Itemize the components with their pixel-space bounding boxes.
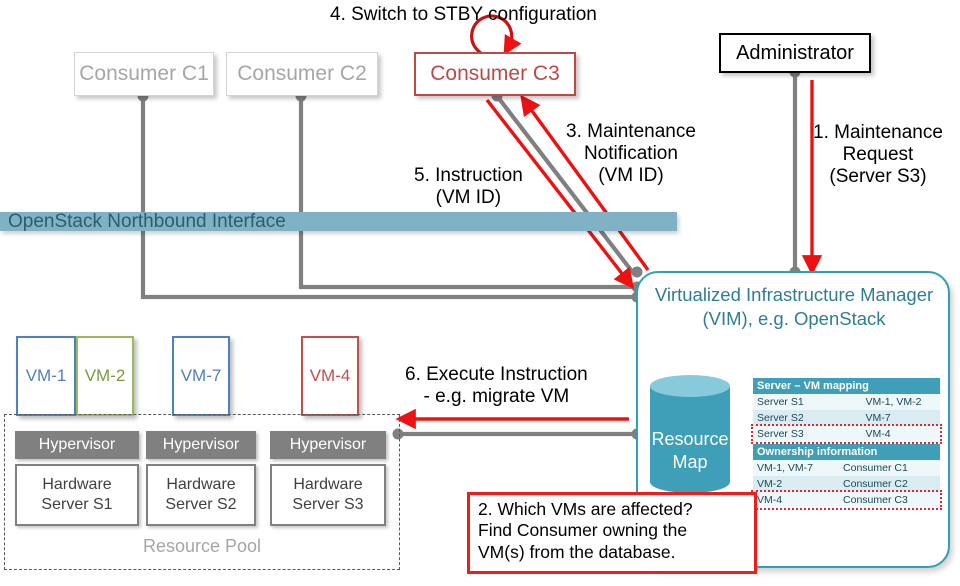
- cell-consumer: Consumer C2: [839, 476, 940, 492]
- hypervisor-s1: Hypervisor: [15, 431, 139, 459]
- cell-consumer: Consumer C3: [839, 492, 940, 508]
- table-row-highlighted: Server S3 VM-4: [753, 426, 940, 442]
- consumer-label: Consumer C2: [237, 62, 367, 86]
- vim-tables: Server – VM mapping Server S1 VM-1, VM-2…: [753, 378, 940, 508]
- cell-vms: VM-7: [861, 410, 940, 426]
- callout-line-1: 2. Which VMs are affected?: [478, 499, 746, 520]
- administrator-box[interactable]: Administrator: [719, 33, 871, 73]
- callout-step-2: 2. Which VMs are affected? Find Consumer…: [467, 492, 757, 574]
- hardware-server-s2: Hardware Server S2: [146, 464, 256, 526]
- hardware-line1: Hardware: [293, 475, 362, 495]
- vm-label: VM-7: [181, 366, 222, 386]
- hardware-line1: Hardware: [166, 475, 235, 495]
- resource-map-database-icon: Resource Map: [650, 375, 730, 493]
- hypervisor-s3: Hypervisor: [270, 431, 386, 459]
- resource-pool-label: Resource Pool: [4, 536, 400, 557]
- annotation-step-5: 5. Instruction (VM ID): [414, 165, 523, 209]
- cell-vms: VM-4: [861, 426, 940, 442]
- hypervisor-label: Hypervisor: [163, 436, 239, 454]
- cell-vms: VM-2: [753, 476, 839, 492]
- hypervisor-label: Hypervisor: [39, 436, 115, 454]
- hardware-server-s3: Hardware Server S3: [270, 464, 386, 526]
- consumer-label: Consumer C3: [430, 62, 560, 86]
- consumer-box-c3[interactable]: Consumer C3: [414, 52, 576, 96]
- consumer-box-c2[interactable]: Consumer C2: [226, 52, 378, 96]
- vm-box-vm-4[interactable]: VM-4: [301, 336, 359, 416]
- vm-box-vm-1[interactable]: VM-1: [16, 336, 76, 416]
- hypervisor-label: Hypervisor: [290, 436, 366, 454]
- table-row: VM-2 Consumer C2: [753, 476, 940, 492]
- cell-vms: VM-4: [753, 492, 839, 508]
- annotation-step-4: 4. Switch to STBY configuration: [330, 4, 597, 26]
- cell-consumer: Consumer C1: [839, 460, 940, 476]
- hardware-line1: Hardware: [42, 475, 111, 495]
- hardware-line2: Server S3: [292, 495, 363, 515]
- hardware-server-s1: Hardware Server S1: [15, 464, 139, 526]
- vm-label: VM-1: [26, 366, 67, 386]
- callout-line-2: Find Consumer owning the: [478, 520, 746, 541]
- hypervisor-s2: Hypervisor: [146, 431, 256, 459]
- diagram-canvas: Consumer C1 Consumer C2 Consumer C3 Admi…: [0, 0, 960, 586]
- resource-map-label: Resource Map: [650, 428, 730, 473]
- cell-server: Server S3: [753, 426, 861, 442]
- annotation-step-3: 3. Maintenance Notification (VM ID): [566, 121, 696, 187]
- annotation-step-6: 6. Execute Instruction - e.g. migrate VM: [405, 364, 588, 408]
- table-row-highlighted: VM-4 Consumer C3: [753, 492, 940, 508]
- table-row: VM-1, VM-7 Consumer C1: [753, 460, 940, 476]
- consumer-box-c1[interactable]: Consumer C1: [74, 52, 214, 96]
- vim-title: Virtualized Infrastructure Manager (VIM)…: [640, 283, 948, 331]
- cell-server: Server S1: [753, 394, 861, 410]
- callout-line-3: VM(s) from the database.: [478, 542, 746, 563]
- hardware-line2: Server S2: [165, 495, 236, 515]
- cell-server: Server S2: [753, 410, 861, 426]
- vm-box-vm-2[interactable]: VM-2: [76, 336, 134, 416]
- table-header-ownership-information: Ownership information: [753, 444, 940, 460]
- vm-box-vm-7[interactable]: VM-7: [172, 336, 230, 416]
- openstack-northbound-interface-label: OpenStack Northbound Interface: [8, 211, 286, 233]
- table-row: Server S2 VM-7: [753, 410, 940, 426]
- hardware-line2: Server S1: [41, 495, 112, 515]
- table-row: Server S1 VM-1, VM-2: [753, 394, 940, 410]
- cell-vms: VM-1, VM-7: [753, 460, 839, 476]
- cell-vms: VM-1, VM-2: [861, 394, 940, 410]
- administrator-label: Administrator: [736, 42, 854, 65]
- consumer-label: Consumer C1: [79, 62, 209, 86]
- annotation-step-1: 1. Maintenance Request (Server S3): [813, 122, 943, 188]
- vm-label: VM-2: [85, 366, 126, 386]
- table-header-server-vm-mapping: Server – VM mapping: [753, 378, 940, 394]
- vm-label: VM-4: [310, 366, 351, 386]
